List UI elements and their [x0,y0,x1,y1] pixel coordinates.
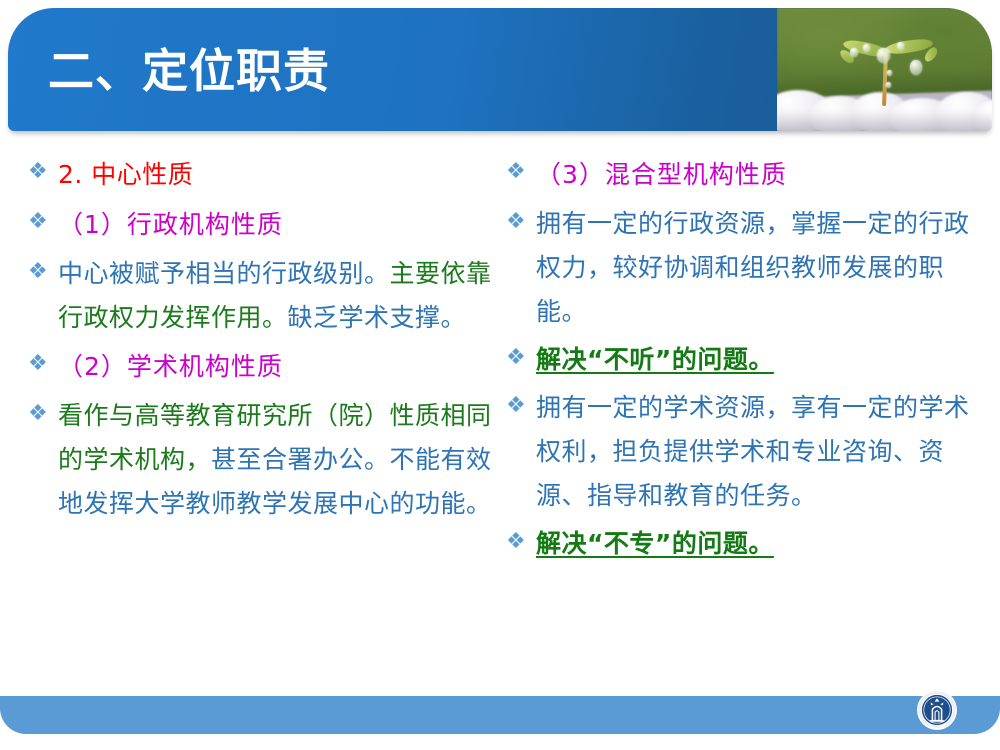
dew-drop-shape [886,82,891,88]
list-item-label: 拥有一定的行政资源，掌握一定的行政权力，较好协调和组织教师发展的职能。 [536,202,982,334]
diamond-bullet-icon: ❖ [502,386,536,426]
list-item: ❖ 拥有一定的行政资源，掌握一定的行政权力，较好协调和组织教师发展的职能。 [502,202,982,334]
dew-drop-shape [887,70,892,76]
university-seal-logo [916,689,958,731]
slide-footer-bar [0,696,1000,734]
list-item: ❖ 中心被赋予相当的行政级别。主要依靠行政权力发挥作用。缺乏学术支撑。 [24,252,494,340]
diamond-bullet-icon: ❖ [24,202,58,242]
diamond-bullet-icon: ❖ [24,344,58,384]
list-item-label: 中心被赋予相当的行政级别。主要依靠行政权力发挥作用。缺乏学术支撑。 [58,252,494,340]
text-run: 缺乏学术支撑。 [288,303,467,332]
diamond-bullet-icon: ❖ [24,152,58,192]
list-item-label: 2. 中心性质 [58,152,494,198]
diamond-bullet-icon: ❖ [24,252,58,292]
emphasized-text-run: 解决“不听”的问题。 [536,345,774,374]
list-item-label: 看作与高等教育研究所（院）性质相同的学术机构，甚至合署办公。不能有效地发挥大学教… [58,394,494,526]
diamond-bullet-icon: ❖ [502,202,536,242]
dew-drop-shape [897,42,904,50]
slide-header-banner: 二、定位职责 [8,8,992,131]
diamond-bullet-icon: ❖ [502,338,536,378]
right-content-column: ❖ （3）混合型机构性质 ❖ 拥有一定的行政资源，掌握一定的行政权力，较好协调和… [502,152,982,570]
emphasized-text-run: 解决“不专”的问题。 [536,529,774,558]
diamond-bullet-icon: ❖ [502,522,536,562]
list-item-label: （1）行政机构性质 [58,202,494,248]
dew-drop-shape [910,60,922,75]
text-run: 中心被赋予相当的行政级别。 [58,259,390,288]
dew-drop-shape [877,48,890,63]
page-title: 二、定位职责 [48,44,330,99]
pebble-shadow [777,112,992,131]
list-item: ❖ 解决“不听”的问题。 [502,338,982,382]
list-item-label: 解决“不专”的问题。 [536,522,982,566]
list-item: ❖ （2）学术机构性质 [24,344,494,390]
list-item: ❖ （3）混合型机构性质 [502,152,982,198]
list-item-label: （3）混合型机构性质 [536,152,982,198]
list-item: ❖ 2. 中心性质 [24,152,494,198]
dew-drop-shape [863,44,870,52]
header-photo-seedling [777,8,992,131]
diamond-bullet-icon: ❖ [502,152,536,192]
left-content-column: ❖ 2. 中心性质 ❖ （1）行政机构性质 ❖ 中心被赋予相当的行政级别。主要依… [24,152,494,530]
list-item-label: 解决“不听”的问题。 [536,338,982,382]
list-item: ❖ （1）行政机构性质 [24,202,494,248]
list-item: ❖ 拥有一定的学术资源，享有一定的学术权利，担负提供学术和专业咨询、资源、指导和… [502,386,982,518]
list-item: ❖ 解决“不专”的问题。 [502,522,982,566]
slide-canvas: 二、定位职责 ❖ 2. 中心性质 [0,0,1000,750]
list-item-label: 拥有一定的学术资源，享有一定的学术权利，担负提供学术和专业咨询、资源、指导和教育… [536,386,982,518]
list-item-label: （2）学术机构性质 [58,344,494,390]
dew-drop-shape [850,48,858,57]
diamond-bullet-icon: ❖ [24,394,58,434]
list-item: ❖ 看作与高等教育研究所（院）性质相同的学术机构，甚至合署办公。不能有效地发挥大… [24,394,494,526]
